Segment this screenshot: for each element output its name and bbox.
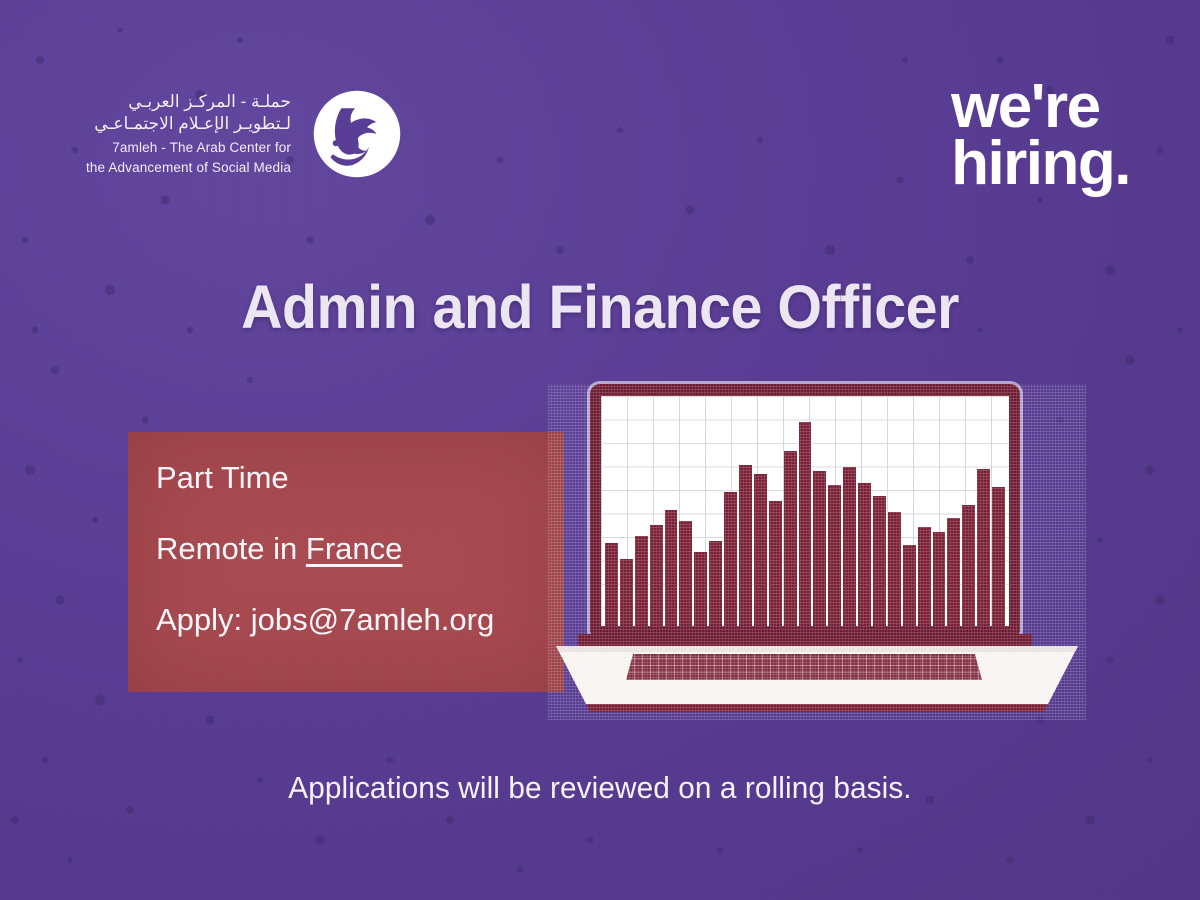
chart-bar bbox=[858, 483, 871, 626]
hiring-line-2: hiring. bbox=[951, 135, 1130, 192]
brand-name-english-line2: the Advancement of Social Media bbox=[86, 159, 291, 177]
chart-bar bbox=[724, 492, 737, 626]
job-title: Admin and Finance Officer bbox=[36, 272, 1164, 342]
apply-instruction: Apply: jobs@7amleh.org bbox=[156, 604, 554, 635]
chart-bar bbox=[918, 527, 931, 626]
chart-bar bbox=[769, 501, 782, 626]
chart-bar bbox=[784, 451, 797, 626]
chart-bar bbox=[903, 545, 916, 626]
chart-bar bbox=[962, 505, 975, 626]
job-posting-poster: حملـة - المركـز العربـي لـتطويـر الإعـلا… bbox=[0, 0, 1200, 900]
brand-name-english-line1: 7amleh - The Arab Center for bbox=[86, 139, 291, 157]
keyboard-keys bbox=[626, 654, 982, 680]
apply-email-link[interactable]: jobs@7amleh.org bbox=[251, 602, 494, 637]
job-location-country: France bbox=[306, 531, 402, 566]
chart-bar bbox=[947, 518, 960, 626]
laptop-screen bbox=[601, 396, 1009, 626]
chart-bar bbox=[694, 552, 707, 626]
chart-bar bbox=[873, 496, 886, 626]
chart-bar bbox=[888, 512, 901, 626]
job-location-prefix: Remote in bbox=[156, 531, 306, 566]
chart-bar bbox=[739, 465, 752, 626]
laptop-screen-bezel bbox=[590, 384, 1020, 640]
chart-bar bbox=[635, 536, 648, 626]
chart-bar bbox=[650, 525, 663, 626]
chart-bar bbox=[992, 487, 1005, 626]
job-details-panel: Part Time Remote in France Apply: jobs@7… bbox=[128, 432, 564, 692]
chart-bar bbox=[799, 422, 812, 626]
7amleh-calligraphy-logo-icon bbox=[311, 88, 403, 180]
brand-logo-text: حملـة - المركـز العربـي لـتطويـر الإعـلا… bbox=[86, 91, 291, 178]
chart-bar bbox=[665, 510, 678, 626]
employment-type: Part Time bbox=[156, 462, 554, 493]
hiring-line-1: we're bbox=[951, 78, 1130, 135]
brand-name-arabic-line1: حملـة - المركـز العربـي bbox=[86, 91, 291, 113]
were-hiring-headline: we're hiring. bbox=[951, 78, 1130, 192]
job-details-list: Part Time Remote in France Apply: jobs@7… bbox=[156, 462, 554, 635]
brand-name-arabic-line2: لـتطويـر الإعـلام الاجتمـاعـي bbox=[86, 113, 291, 135]
apply-label: Apply: bbox=[156, 602, 251, 637]
chart-bar bbox=[679, 521, 692, 626]
laptop-illustration bbox=[548, 384, 1086, 720]
laptop-keyboard bbox=[626, 654, 982, 680]
bar-chart bbox=[605, 402, 1005, 626]
chart-bar bbox=[933, 532, 946, 626]
chart-bar bbox=[620, 559, 633, 626]
chart-bar bbox=[828, 485, 841, 626]
rolling-basis-note: Applications will be reviewed on a rolli… bbox=[24, 770, 1176, 806]
chart-bar bbox=[754, 474, 767, 626]
laptop-base bbox=[548, 646, 1086, 720]
brand-logo: حملـة - المركـز العربـي لـتطويـر الإعـلا… bbox=[86, 88, 403, 180]
chart-bar bbox=[813, 471, 826, 626]
job-location: Remote in France bbox=[156, 533, 554, 564]
chart-bar bbox=[843, 467, 856, 626]
chart-bar bbox=[605, 543, 618, 626]
chart-bar bbox=[709, 541, 722, 626]
chart-bar bbox=[977, 469, 990, 626]
